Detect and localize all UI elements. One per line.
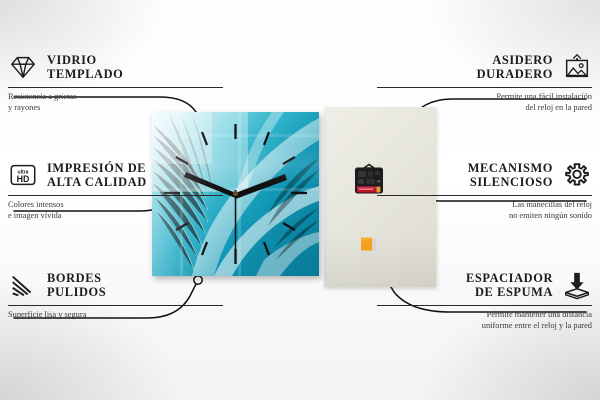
feature-divider xyxy=(8,305,223,306)
feature-title: IMPRESIÓN DE ALTA CALIDAD xyxy=(47,161,147,189)
svg-text:HD: HD xyxy=(17,174,30,184)
clock-center-cap xyxy=(233,191,238,196)
feature-description: Resistencia a grietas y rayones xyxy=(8,92,223,113)
feature-divider xyxy=(377,305,592,306)
feature-asidero-duradero: ASIDERO DURADERO Permite una fácil insta… xyxy=(377,50,592,113)
foam-spacer-arrow-icon xyxy=(562,270,592,300)
feature-title: ESPACIADOR DE ESPUMA xyxy=(466,271,553,299)
feature-description: Colores intensos e imagen vívida xyxy=(8,200,223,221)
feature-description: Superficie lisa y segura xyxy=(8,310,223,321)
feature-mecanismo-silencioso: MECANISMO SILENCIOSO Las manecillas del … xyxy=(377,158,592,221)
infographic-canvas: VIDRIO TEMPLADO Resistencia a grietas y … xyxy=(0,0,600,400)
gear-icon xyxy=(562,160,592,190)
feature-title: VIDRIO TEMPLADO xyxy=(47,53,123,81)
minute-hand xyxy=(236,174,288,199)
feature-bordes-pulidos: BORDES PULIDOS Superficie lisa y segura xyxy=(8,268,223,321)
feature-divider xyxy=(8,87,223,88)
feature-impresion-alta-calidad: ultra HD IMPRESIÓN DE ALTA CALIDAD Color… xyxy=(8,158,223,221)
feature-divider xyxy=(8,195,223,196)
feature-description: Las manecillas del reloj no emiten ningú… xyxy=(377,200,592,221)
feature-header: VIDRIO TEMPLADO xyxy=(8,50,223,84)
feature-description: Permite mantener una distancia uniforme … xyxy=(377,310,592,331)
feature-description: Permite una fácil instalación del reloj … xyxy=(377,92,592,113)
polished-edges-icon xyxy=(8,270,38,300)
feature-header: ESPACIADOR DE ESPUMA xyxy=(377,268,592,302)
feature-title: MECANISMO SILENCIOSO xyxy=(468,161,553,189)
ultra-hd-icon: ultra HD xyxy=(8,160,38,190)
feature-vidrio-templado: VIDRIO TEMPLADO Resistencia a grietas y … xyxy=(8,50,223,113)
diamond-icon xyxy=(8,52,38,82)
feature-header: ASIDERO DURADERO xyxy=(377,50,592,84)
feature-header: BORDES PULIDOS xyxy=(8,268,223,302)
wall-hanger-frame-icon xyxy=(562,52,592,82)
foam-spacer xyxy=(360,237,377,253)
feature-espaciador-de-espuma: ESPACIADOR DE ESPUMA Permite mantener un… xyxy=(377,268,592,331)
feature-title: BORDES PULIDOS xyxy=(47,271,106,299)
feature-divider xyxy=(377,87,592,88)
feature-header: ultra HD IMPRESIÓN DE ALTA CALIDAD xyxy=(8,158,223,192)
feature-title: ASIDERO DURADERO xyxy=(477,53,553,81)
feature-header: MECANISMO SILENCIOSO xyxy=(377,158,592,192)
feature-divider xyxy=(377,195,592,196)
